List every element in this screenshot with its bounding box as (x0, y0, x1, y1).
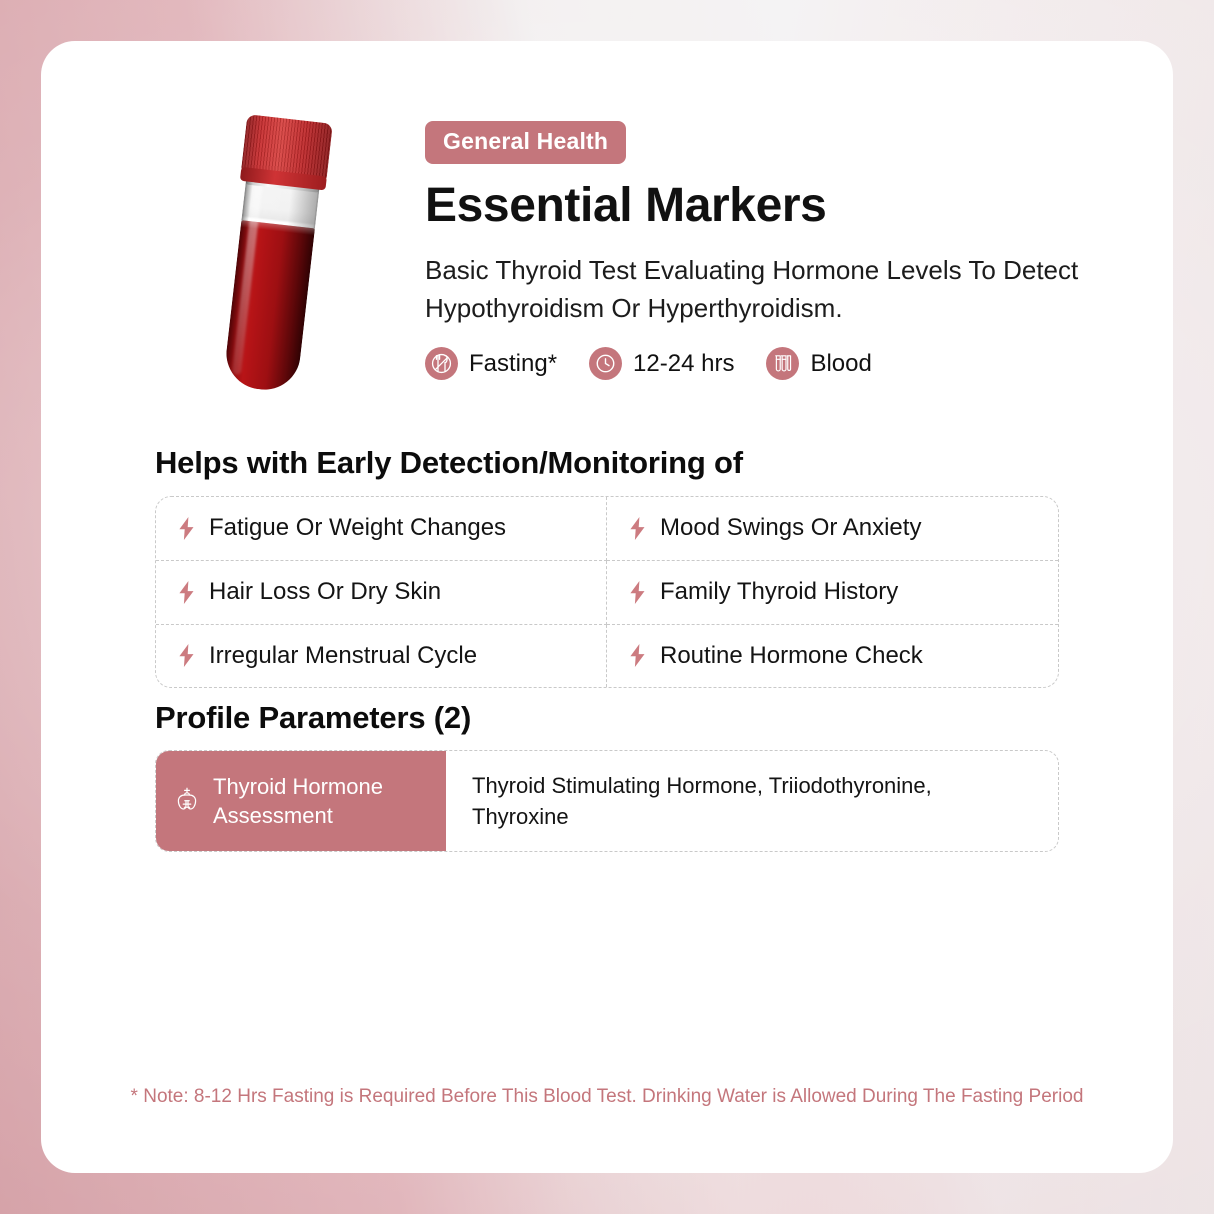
clock-icon (589, 347, 622, 380)
helps-item-label: Routine Hormone Check (660, 642, 923, 671)
helps-grid: Fatigue Or Weight Changes Mood Swings Or… (155, 496, 1059, 688)
lightning-bolt-icon (178, 644, 195, 667)
meta-label-fasting: Fasting* (469, 350, 557, 378)
page-title: Essential Markers (425, 180, 1105, 232)
helps-item: Mood Swings Or Anxiety (607, 497, 1058, 561)
lightning-bolt-icon (629, 644, 646, 667)
parameter-values: Thyroid Stimulating Hormone, Triiodothyr… (446, 751, 1058, 851)
parameter-row: Thyroid Hormone Assessment Thyroid Stimu… (155, 750, 1059, 852)
vial-graphic (209, 113, 347, 395)
meta-item-duration: 12-24 hrs (589, 347, 734, 380)
helps-item-label: Irregular Menstrual Cycle (209, 642, 477, 671)
test-profile-card: General Health Essential Markers Basic T… (41, 41, 1173, 1173)
helps-item-label: Hair Loss Or Dry Skin (209, 578, 441, 607)
hero-text-column: General Health Essential Markers Basic T… (425, 121, 1105, 380)
helps-item: Routine Hormone Check (607, 625, 1058, 688)
meta-item-fasting: Fasting* (425, 347, 557, 380)
test-description: Basic Thyroid Test Evaluating Hormone Le… (425, 252, 1085, 327)
meta-item-sample: Blood (766, 347, 871, 380)
lightning-bolt-icon (178, 517, 195, 540)
test-tubes-icon (766, 347, 799, 380)
helps-item-label: Fatigue Or Weight Changes (209, 514, 506, 543)
meta-label-sample: Blood (810, 350, 871, 378)
parameters-list: Thyroid Hormone Assessment Thyroid Stimu… (155, 750, 1059, 852)
helps-item: Hair Loss Or Dry Skin (156, 561, 607, 625)
blood-vial-illustration (213, 119, 373, 399)
parameter-group-chip: Thyroid Hormone Assessment (156, 751, 446, 851)
meta-label-duration: 12-24 hrs (633, 350, 734, 378)
thyroid-gland-icon (174, 786, 200, 816)
helps-heading: Helps with Early Detection/Monitoring of (155, 445, 743, 481)
lightning-bolt-icon (629, 581, 646, 604)
helps-item: Family Thyroid History (607, 561, 1058, 625)
parameter-group-label: Thyroid Hormone Assessment (213, 772, 428, 830)
parameters-heading: Profile Parameters (2) (155, 700, 471, 736)
fasting-note: * Note: 8-12 Hrs Fasting is Required Bef… (41, 1086, 1173, 1108)
helps-item-label: Family Thyroid History (660, 578, 898, 607)
helps-item: Fatigue Or Weight Changes (156, 497, 607, 561)
lightning-bolt-icon (629, 517, 646, 540)
helps-item: Irregular Menstrual Cycle (156, 625, 607, 688)
no-food-fasting-icon (425, 347, 458, 380)
meta-row: Fasting* 12-24 hrs (425, 347, 1105, 380)
category-badge: General Health (425, 121, 626, 164)
helps-item-label: Mood Swings Or Anxiety (660, 514, 921, 543)
vial-cap (241, 114, 333, 181)
lightning-bolt-icon (178, 581, 195, 604)
